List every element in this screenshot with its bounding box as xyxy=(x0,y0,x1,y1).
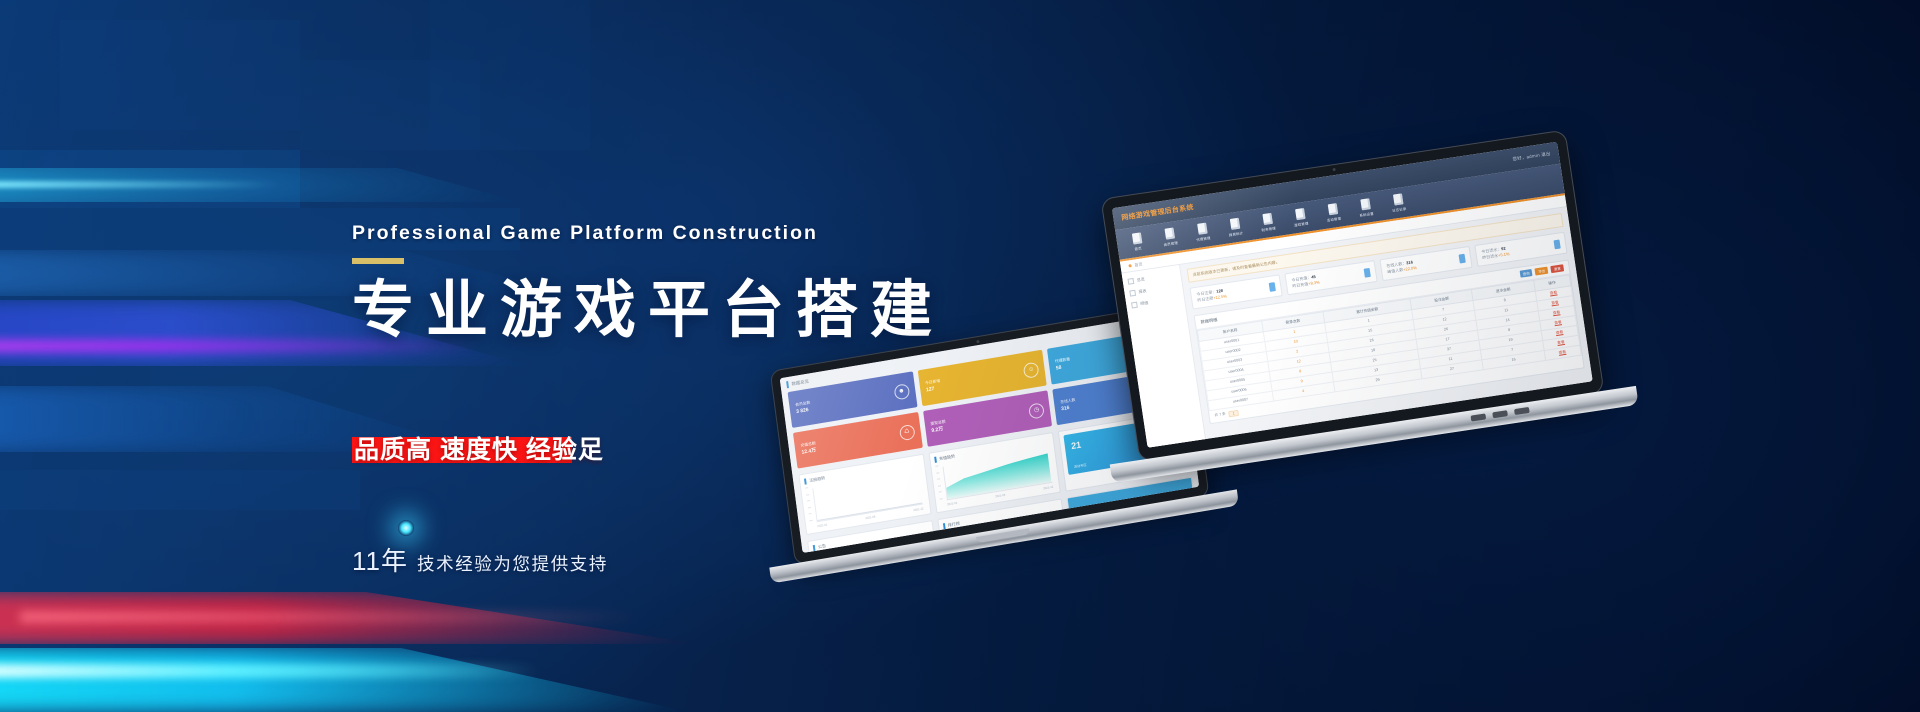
toolbar-label: 活动管理 xyxy=(1326,216,1341,223)
toolbar-item-finance[interactable]: 财务管理 xyxy=(1256,212,1278,233)
panel-accent-bar xyxy=(813,545,816,551)
x-tick: 2021-12 xyxy=(913,506,924,512)
promo-label: 活动专区 xyxy=(1074,462,1087,469)
section-accent-bar xyxy=(786,381,789,388)
toolbar-item-settings[interactable]: 系统设置 xyxy=(1354,197,1376,218)
stat-card-delta: +8.3% xyxy=(1308,280,1320,287)
stat-card-delta: +5.1% xyxy=(1498,251,1510,258)
toolbar-label: 首页 xyxy=(1134,245,1142,251)
panel-title: 排行榜 xyxy=(948,521,961,529)
gold-underline-rule xyxy=(352,258,404,264)
x-tick: 2021-01 xyxy=(947,501,958,507)
stat-card-sub: 昨日注册 xyxy=(1197,296,1214,303)
toolbar-label: 系统设置 xyxy=(1359,211,1374,218)
stat-card-sub: 昨日充值 xyxy=(1292,281,1309,288)
toolbar-label: 财务管理 xyxy=(1261,225,1276,232)
x-tick: 2021-12 xyxy=(1043,485,1054,491)
online-icon xyxy=(1459,253,1466,263)
toolbar-label: 报表统计 xyxy=(1229,230,1244,237)
stat-card-value: 92 xyxy=(1501,246,1506,252)
toolbar-label: 会员管理 xyxy=(1163,240,1178,247)
panel-accent-bar xyxy=(934,457,937,463)
agent-icon xyxy=(1197,223,1208,235)
pagination-total: 共 7 条 xyxy=(1214,412,1226,419)
toolbar-item-activities[interactable]: 活动管理 xyxy=(1322,202,1344,223)
x-tick: 2021-06 xyxy=(995,493,1006,499)
toolbar-item-home[interactable]: 首页 xyxy=(1126,232,1148,253)
log-icon xyxy=(1392,193,1403,205)
feature-badge: 品质高 速度快 经验足 xyxy=(352,437,602,463)
webcam-icon xyxy=(1332,168,1335,171)
sidebar-item-label: 总览 xyxy=(1136,276,1145,283)
user-menu[interactable]: 您好，admin 退出 xyxy=(1512,151,1551,163)
user-add-icon: ☺ xyxy=(1023,361,1040,378)
toolbar-item-logs[interactable]: 日志记录 xyxy=(1387,193,1409,214)
feature-badge-text: 品质高 速度快 经验足 xyxy=(354,430,604,466)
stat-card-sub: 昨日流水 xyxy=(1482,253,1499,260)
breadcrumb-label[interactable]: 首页 xyxy=(1134,261,1143,268)
stat-tile-value: 12.4万 xyxy=(801,446,817,457)
pagination-page[interactable]: 1 xyxy=(1228,410,1239,417)
toolbar-label: 代理管理 xyxy=(1196,235,1211,242)
light-streak-cyan-bottom-core xyxy=(0,664,540,678)
stat-card-sub: 峰值人数 xyxy=(1387,267,1404,274)
data-panel-title: 数据明细 xyxy=(1200,317,1217,325)
game-icon xyxy=(1295,208,1306,220)
webcam-icon xyxy=(976,340,979,343)
toolbar-item-agents[interactable]: 代理管理 xyxy=(1191,222,1213,243)
export-button[interactable]: 导出 xyxy=(1535,267,1549,276)
tagline-years: 11年 xyxy=(352,546,408,576)
stat-tile-value: 127 xyxy=(926,384,942,395)
stat-card-delta: +22.0% xyxy=(1403,265,1417,272)
stat-tile-value: 3 826 xyxy=(796,406,812,417)
folder-icon xyxy=(1129,290,1136,297)
stat-tile-value: 9.2万 xyxy=(931,425,947,436)
laptop-front-screen: 网络游戏管理后台系统 您好，admin 退出 首页 会员管理 xyxy=(1112,142,1593,448)
stat-tile-value: 58 xyxy=(1055,362,1071,373)
promo-number: 21 xyxy=(1071,440,1082,452)
glow-dot xyxy=(398,520,414,536)
sidebar-item-details[interactable]: 明细 xyxy=(1131,295,1179,308)
home-icon xyxy=(1131,232,1142,244)
query-button[interactable]: 查询 xyxy=(1519,269,1533,278)
coin-icon xyxy=(1364,268,1371,278)
stat-tile-value: 316 xyxy=(1061,403,1077,414)
eyebrow-text: Professional Game Platform Construction xyxy=(352,222,992,245)
folder-icon xyxy=(1127,278,1134,285)
stat-card-value: 45 xyxy=(1311,274,1316,280)
folder-icon xyxy=(1131,302,1138,309)
users-icon xyxy=(1164,228,1175,240)
chart-title: 充值趋势 xyxy=(939,454,956,463)
light-streak-cyan-top-core xyxy=(0,181,280,188)
panel-accent-bar xyxy=(804,478,807,484)
breadcrumb-dot-icon xyxy=(1128,264,1131,267)
stat-card-delta: +12.5% xyxy=(1213,294,1227,301)
wallet-icon xyxy=(1262,213,1273,225)
gift-icon xyxy=(1327,203,1338,215)
reset-button[interactable]: 重置 xyxy=(1551,265,1565,274)
flow-icon xyxy=(1553,239,1560,249)
headline-block: Professional Game Platform Construction … xyxy=(352,222,992,345)
panel-title: 公告 xyxy=(818,543,827,550)
hero-banner: Professional Game Platform Construction … xyxy=(0,0,1920,712)
chart-icon xyxy=(1229,218,1240,230)
clock-icon: ◷ xyxy=(1028,402,1045,419)
section-title: 数据总览 xyxy=(791,378,809,387)
page-title: 专业游戏平台搭建 xyxy=(352,278,992,345)
area-series xyxy=(944,452,1052,499)
toolbar-item-reports[interactable]: 报表统计 xyxy=(1224,217,1246,238)
sidebar-item-reports[interactable]: 报表 xyxy=(1129,284,1177,297)
toolbar-label: 游戏管理 xyxy=(1294,220,1309,227)
x-tick: 2021-01 xyxy=(817,522,828,528)
light-streak-red-core xyxy=(20,612,640,622)
toolbar-label: 日志记录 xyxy=(1392,206,1407,213)
card-icon: ♺ xyxy=(899,423,916,440)
admin-console-app: 网络游戏管理后台系统 您好，admin 退出 首页 会员管理 xyxy=(1112,142,1593,448)
x-tick: 2021-06 xyxy=(865,514,876,520)
sidebar-item-label: 明细 xyxy=(1140,300,1149,307)
sidebar-item-overview[interactable]: 总览 xyxy=(1127,272,1175,285)
toolbar-item-members[interactable]: 会员管理 xyxy=(1159,227,1181,248)
panel-accent-bar xyxy=(943,523,946,529)
toolbar-item-games[interactable]: 游戏管理 xyxy=(1289,207,1311,228)
user-add-icon xyxy=(1269,282,1276,292)
gear-icon xyxy=(1360,198,1371,210)
experience-tagline: 11年技术经验为您提供支持 xyxy=(352,541,608,578)
chart-title: 注册趋势 xyxy=(809,475,826,484)
tagline-rest: 技术经验为您提供支持 xyxy=(417,554,608,574)
sidebar-item-label: 报表 xyxy=(1138,288,1147,295)
user-icon: ☻ xyxy=(893,383,910,400)
